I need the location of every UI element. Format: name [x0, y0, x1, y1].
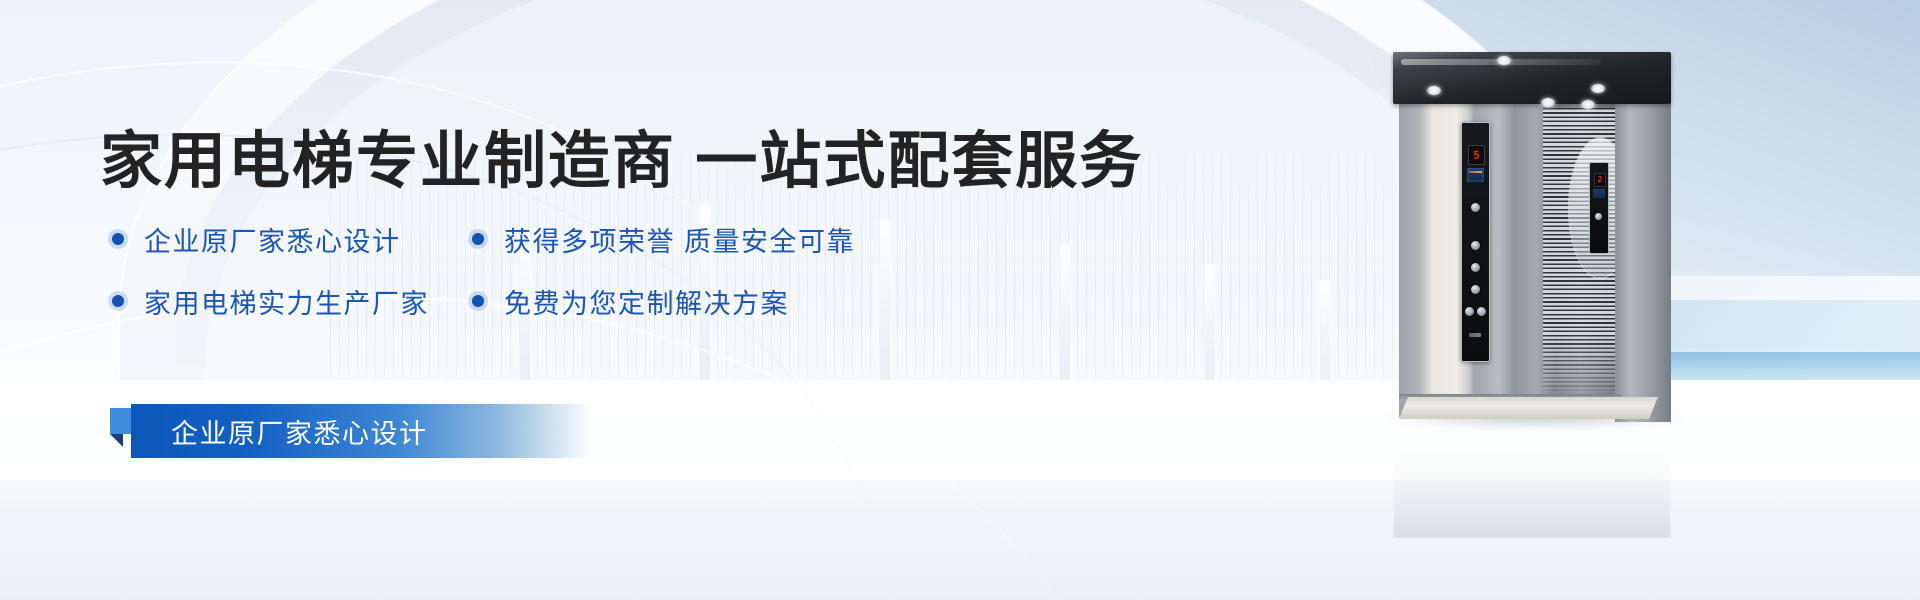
feature-label: 家用电梯实力生产厂家	[144, 282, 429, 321]
feature-list: 企业原厂家悉心设计 获得多项荣誉 质量安全可靠 家用电梯实力生产厂家 免费为您定…	[108, 208, 948, 332]
feature-row: 企业原厂家悉心设计 获得多项荣誉 质量安全可靠	[108, 208, 948, 270]
highlight-ribbon: 企业原厂家悉心设计	[110, 404, 610, 458]
feature-item: 企业原厂家悉心设计	[108, 208, 468, 270]
feature-label: 获得多项荣誉 质量安全可靠	[504, 220, 855, 259]
bullet-dot-icon	[468, 291, 488, 311]
feature-item: 免费为您定制解决方案	[468, 270, 898, 332]
feature-item: 家用电梯实力生产厂家	[108, 270, 468, 332]
feature-label: 企业原厂家悉心设计	[144, 220, 401, 259]
bullet-dot-icon	[108, 291, 128, 311]
banner-content: 家用电梯专业制造商 一站式配套服务 企业原厂家悉心设计 获得多项荣誉 质量安全可…	[0, 0, 1920, 600]
feature-row: 家用电梯实力生产厂家 免费为您定制解决方案	[108, 270, 948, 332]
ribbon-fold-corner-icon	[110, 434, 123, 447]
promotional-banner: 5 2 家用电梯专业制造商 一站式配套服务	[0, 0, 1920, 600]
ribbon-label: 企业原厂家悉心设计	[171, 412, 428, 451]
feature-label: 免费为您定制解决方案	[504, 282, 789, 321]
bullet-dot-icon	[108, 229, 128, 249]
ribbon-body: 企业原厂家悉心设计	[131, 404, 591, 458]
bullet-dot-icon	[468, 229, 488, 249]
feature-item: 获得多项荣誉 质量安全可靠	[468, 208, 898, 270]
page-title: 家用电梯专业制造商 一站式配套服务	[100, 110, 1143, 200]
